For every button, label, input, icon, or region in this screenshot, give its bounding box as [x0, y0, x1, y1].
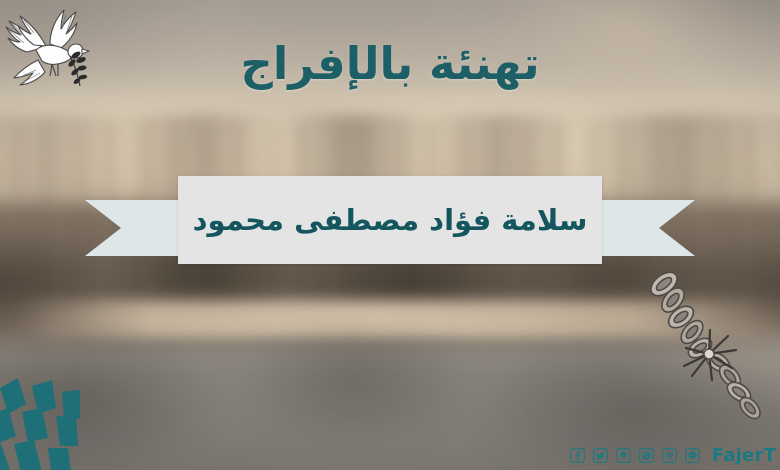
telegram-icon[interactable]	[616, 448, 631, 463]
ribbon-banner: سلامة فؤاد مصطفى محمود	[0, 176, 780, 280]
social-link-telegram[interactable]	[616, 448, 631, 463]
whatsapp-icon[interactable]	[639, 448, 654, 463]
social-links	[570, 448, 700, 463]
social-link-instagram[interactable]	[662, 448, 677, 463]
poster-canvas: تهنئة بالإفراج سلامة فؤاد مصطفى محمود	[0, 0, 780, 470]
social-link-whatsapp[interactable]	[639, 448, 654, 463]
brand-name: FajerT	[712, 445, 776, 466]
twitter-icon[interactable]	[593, 448, 608, 463]
facebook-icon[interactable]	[570, 448, 585, 463]
ribbon-text: سلامة فؤاد مصطفى محمود	[193, 203, 588, 237]
broken-chain-icon	[640, 268, 766, 422]
social-link-facebook[interactable]	[570, 448, 585, 463]
footer-bar: FajerT	[0, 440, 780, 470]
social-link-twitter[interactable]	[593, 448, 608, 463]
instagram-icon[interactable]	[662, 448, 677, 463]
ribbon-body: سلامة فؤاد مصطفى محمود	[178, 176, 602, 264]
social-link-messenger[interactable]	[685, 448, 700, 463]
page-title: تهنئة بالإفراج	[0, 36, 780, 92]
messenger-icon[interactable]	[685, 448, 700, 463]
